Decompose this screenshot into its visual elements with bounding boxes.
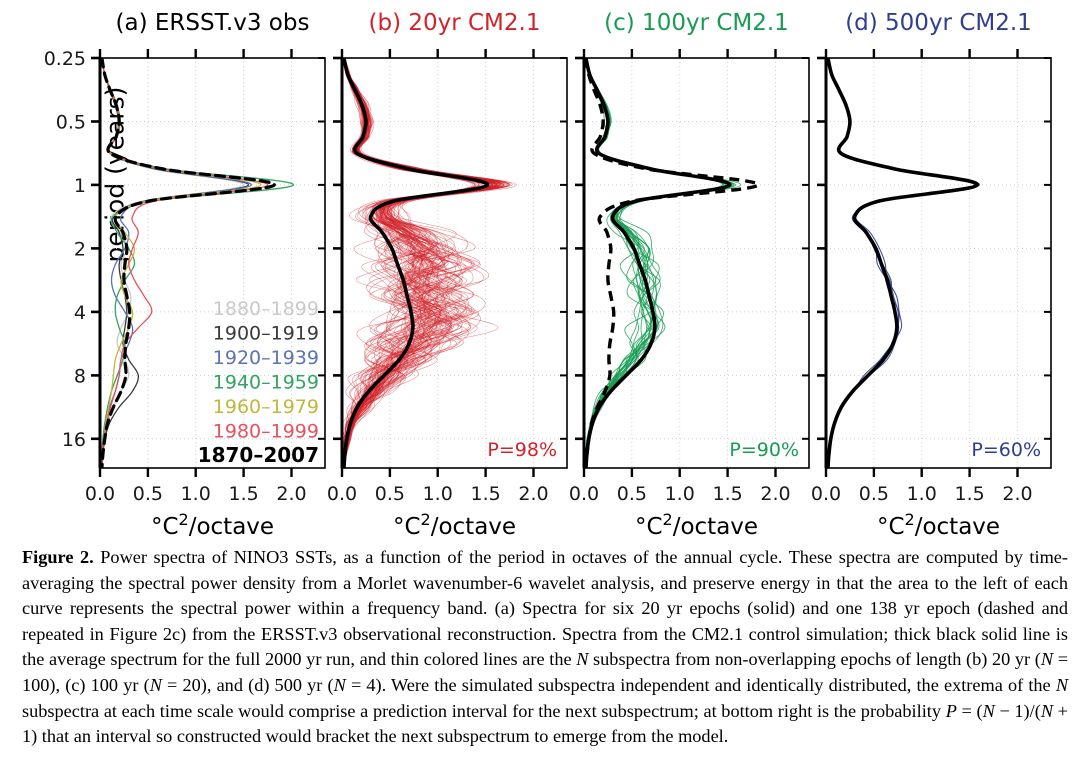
caption-run: P — [946, 701, 957, 721]
caption-run: subspectra at each time scale would comp… — [22, 701, 946, 721]
figure-2: period (years) 0.250.51248160.00.51.01.5… — [0, 0, 1088, 782]
caption-run: = ( — [957, 701, 983, 721]
x-tick-label: 2.0 — [1002, 483, 1032, 505]
legend-item-1880–1899: 1880–1899 — [213, 298, 319, 320]
y-tick-label: 16 — [62, 429, 86, 451]
panel-curves-d — [828, 58, 980, 468]
caption-run: N — [1056, 675, 1068, 695]
x-tick-label: 1.0 — [665, 483, 695, 505]
x-tick-label: 2.0 — [518, 483, 548, 505]
x-tick-label: 1.5 — [470, 483, 500, 505]
spectra-chart: 0.250.51248160.00.51.01.52.0°C2/octave(a… — [0, 0, 1088, 540]
y-tick-label: 0.5 — [56, 112, 86, 134]
legend-item-1920–1939: 1920–1939 — [213, 347, 319, 369]
x-axis-label: °C2/octave — [877, 510, 1000, 540]
caption-run: Figure 2. — [22, 547, 94, 567]
x-tick-label: 0.5 — [133, 483, 163, 505]
x-axis-label: °C2/octave — [151, 510, 274, 540]
x-tick-label: 1.5 — [228, 483, 258, 505]
legend-item-1980–1999: 1980–1999 — [213, 421, 319, 443]
plot-area: period (years) 0.250.51248160.00.51.01.5… — [0, 0, 1088, 540]
probability-label-b: P=98% — [487, 439, 557, 461]
caption-run: N — [576, 649, 588, 669]
probability-label-c: P=90% — [729, 439, 799, 461]
x-tick-label: 1.0 — [181, 483, 211, 505]
x-tick-label: 2.0 — [760, 483, 790, 505]
panel-curves-b — [342, 58, 516, 468]
x-tick-label: 0.0 — [327, 483, 357, 505]
y-tick-label: 4 — [74, 302, 86, 324]
legend-item-1960–1979: 1960–1979 — [213, 396, 319, 418]
x-tick-label: 0.5 — [375, 483, 405, 505]
caption-run: N — [150, 675, 162, 695]
figure-caption: Figure 2. Power spectra of NINO3 SSTs, a… — [22, 545, 1068, 750]
spectrum-line-observed-dashed — [586, 58, 758, 468]
panel-title-d: (d) 500yr CM2.1 — [845, 10, 1032, 36]
caption-run: N — [1041, 649, 1053, 669]
y-tick-label: 2 — [74, 238, 86, 260]
x-tick-label: 0.0 — [811, 483, 841, 505]
probability-label-d: P=60% — [971, 439, 1041, 461]
caption-run: = 4). Were the simulated subspectra inde… — [346, 675, 1056, 695]
y-tick-label: 1 — [74, 175, 86, 197]
caption-run: − 1)/( — [995, 701, 1041, 721]
legend-item-1940–1959: 1940–1959 — [213, 372, 319, 394]
x-tick-label: 2.0 — [276, 483, 306, 505]
y-tick-label: 0.25 — [44, 48, 86, 70]
panel-b: 0.00.51.01.52.0°C2/octave(b) 20yr CM2.1P… — [327, 10, 567, 540]
legend-item-1870–2007: 1870–2007 — [198, 443, 319, 467]
panel-title-b: (b) 20yr CM2.1 — [369, 10, 541, 36]
x-tick-label: 0.0 — [85, 483, 115, 505]
panel-c: 0.00.51.01.52.0°C2/octave(c) 100yr CM2.1… — [569, 10, 809, 540]
x-axis-label: °C2/octave — [393, 510, 516, 540]
caption-run: = 20), and (d) 500 yr ( — [162, 675, 334, 695]
legend-item-1900–1919: 1900–1919 — [213, 323, 319, 345]
caption-run: subspectra from non-overlapping epochs o… — [588, 649, 1040, 669]
x-tick-label: 1.5 — [954, 483, 984, 505]
x-tick-label: 0.5 — [859, 483, 889, 505]
panel-title-c: (c) 100yr CM2.1 — [604, 10, 789, 36]
x-tick-label: 1.0 — [423, 483, 453, 505]
x-tick-label: 1.0 — [907, 483, 937, 505]
caption-run: N — [334, 675, 346, 695]
y-tick-label: 8 — [74, 365, 86, 387]
panel-title-a: (a) ERSST.v3 obs — [116, 10, 310, 36]
x-tick-label: 1.5 — [712, 483, 742, 505]
panel-d: 0.00.51.01.52.0°C2/octave(d) 500yr CM2.1… — [811, 10, 1051, 540]
spectrum-line-mean — [828, 58, 977, 468]
caption-run: N — [1041, 701, 1053, 721]
x-axis-label: °C2/octave — [635, 510, 758, 540]
legend: 1880–18991900–19191920–19391940–19591960… — [198, 298, 319, 467]
x-tick-label: 0.0 — [569, 483, 599, 505]
caption-run: N — [983, 701, 995, 721]
x-tick-label: 0.5 — [617, 483, 647, 505]
panel-curves-c — [585, 58, 758, 468]
